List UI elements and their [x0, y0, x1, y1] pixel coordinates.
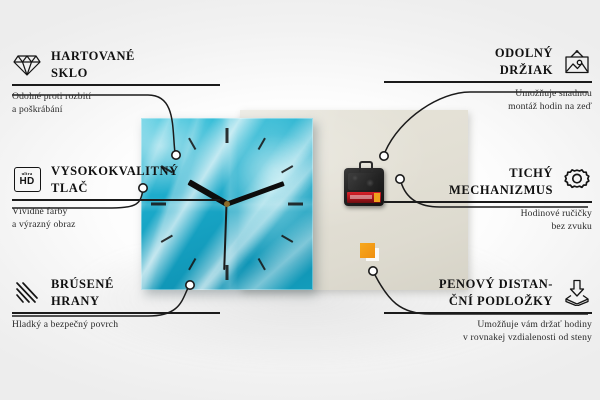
feature-description: Vívidné farby a výrazný obraz	[12, 205, 220, 232]
feature-high-quality-print: ultra HD VYSOKOKVALITNÝ TLAČ Vívidné far…	[12, 163, 220, 232]
feature-divider	[12, 312, 220, 313]
diamond-icon	[12, 51, 42, 79]
feature-polished-edges: BRÚSENÉ HRANY Hladký a bezpečný povrch	[12, 276, 220, 331]
feature-title: VYSOKOKVALITNÝ TLAČ	[51, 163, 179, 196]
infographic-canvas: HARTOVANÉ SKLO Odolné proti rozbití a po…	[0, 0, 600, 400]
feature-title: HARTOVANÉ SKLO	[51, 48, 135, 81]
feature-header: ODOLNÝ DRŽIAK	[384, 45, 592, 78]
feature-description: Odolné proti rozbití a poškrábání	[12, 90, 220, 117]
feature-silent-mechanism: TICHÝ MECHANIZMUS Hodinové ručičky bez z…	[384, 165, 592, 234]
clock-tick	[226, 128, 229, 143]
feature-foam-spacers: PENOVÝ DISTAN- ČNÍ PODLOŽKY Umožňuje vám…	[384, 276, 592, 345]
feature-divider	[384, 312, 592, 313]
feature-hardened-glass: HARTOVANÉ SKLO Odolné proti rozbití a po…	[12, 48, 220, 117]
mechanism-shaft	[359, 161, 373, 172]
picture-frame-hanger-icon	[562, 48, 592, 76]
arrow-onto-pad-icon	[562, 279, 592, 307]
ultra-hd-icon: ultra HD	[12, 166, 42, 194]
battery-positive-terminal	[374, 193, 380, 202]
gear-icon	[562, 168, 592, 196]
clock-center-cap	[224, 201, 230, 207]
feature-title: PENOVÝ DISTAN- ČNÍ PODLOŽKY	[439, 276, 553, 309]
feature-header: PENOVÝ DISTAN- ČNÍ PODLOŽKY	[384, 276, 592, 309]
feature-header: BRÚSENÉ HRANY	[12, 276, 220, 309]
feature-durable-hanger: ODOLNÝ DRŽIAK Umožňuje snadnou montáž ho…	[384, 45, 592, 114]
feature-title: ODOLNÝ DRŽIAK	[495, 45, 553, 78]
feature-divider	[12, 84, 220, 85]
foam-spacer-pad	[360, 243, 375, 258]
feature-title: TICHÝ MECHANIZMUS	[449, 165, 553, 198]
feature-header: ultra HD VYSOKOKVALITNÝ TLAČ	[12, 163, 220, 196]
hd-badge-hd-label: HD	[19, 177, 34, 187]
feature-title: BRÚSENÉ HRANY	[51, 276, 114, 309]
feature-description: Hodinové ručičky bez zvuku	[384, 207, 592, 234]
feature-divider	[384, 81, 592, 82]
battery-label	[350, 195, 372, 199]
clock-tick	[288, 203, 303, 206]
clock-tick	[226, 265, 229, 280]
diagonal-lines-icon	[12, 279, 42, 307]
feature-divider	[12, 199, 220, 200]
feature-header: HARTOVANÉ SKLO	[12, 48, 220, 81]
feature-description: Umožňuje snadnou montáž hodin na zeď	[384, 87, 592, 114]
feature-divider	[384, 201, 592, 202]
clock-mechanism	[344, 168, 384, 206]
hd-badge: ultra HD	[14, 167, 41, 192]
battery	[347, 192, 381, 203]
mechanism-detail	[348, 173, 380, 190]
feature-description: Hladký a bezpečný povrch	[12, 318, 220, 332]
feature-header: TICHÝ MECHANIZMUS	[384, 165, 592, 198]
feature-description: Umožňuje vám držať hodiny v rovnakej vzd…	[384, 318, 592, 345]
